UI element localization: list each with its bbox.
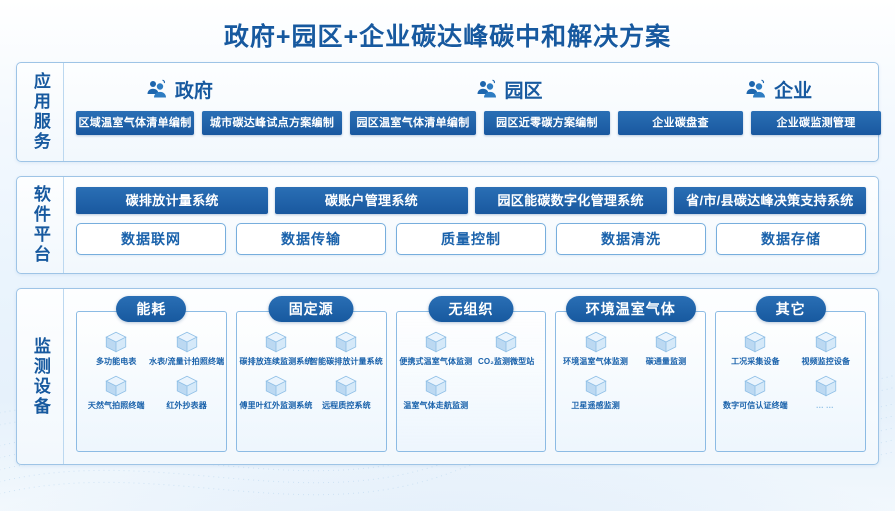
group-title-government: 政府 [175, 76, 213, 103]
device-label: 远程质控系统 [322, 402, 371, 411]
device-label: 卫星遥感监测 [571, 402, 620, 411]
cube-icon [333, 373, 359, 399]
app-button-city-carbon-peak-pilot[interactable]: 城市碳达峰试点方案编制 [202, 111, 342, 135]
column-caption-ambient-ghg: 环境温室气体 [566, 296, 696, 322]
device-list-ambient-ghg: 环境温室气体监测 碳通量监测 [555, 311, 706, 452]
solution-architecture-page: 政府+园区+企业碳达峰碳中和解决方案 应用服务 [0, 0, 895, 511]
application-services-body: 政府 园区 [64, 63, 893, 161]
application-services-label: 应用服务 [17, 63, 64, 161]
software-platform-capabilities: 数据联网 数据传输 质量控制 数据清洗 数据存储 [64, 214, 878, 255]
app-button-regional-ghg-inventory[interactable]: 区域温室气体清单编制 [76, 111, 194, 135]
monitoring-column-stationary-source: 固定源 碳排放连续监测系统 [236, 303, 387, 452]
device-item[interactable]: 水表/流量计拍照终端 [151, 329, 221, 367]
monitoring-equipment-band: 监测设备 能耗 多功能电表 [16, 288, 879, 465]
monitoring-column-ambient-ghg: 环境温室气体 环境温室气体监测 [555, 303, 706, 452]
device-label: 多功能电表 [96, 358, 137, 367]
application-services-band: 应用服务 政府 [16, 62, 879, 162]
group-heading-enterprise: 企业 [643, 76, 883, 103]
app-button-enterprise-carbon-audit[interactable]: 企业碳盘查 [618, 111, 743, 135]
cube-icon [263, 329, 289, 355]
software-platform-label: 软件平台 [17, 177, 64, 273]
column-caption-fugitive-source: 无组织 [428, 296, 513, 322]
software-platform-label-text: 软件平台 [31, 185, 49, 265]
cube-icon [583, 329, 609, 355]
monitoring-equipment-label-text: 监测设备 [31, 337, 49, 417]
cube-icon [742, 329, 768, 355]
device-label: 红外抄表器 [166, 402, 207, 411]
device-label: 智能碳排放计量系统 [310, 358, 383, 367]
group-heading-government: 政府 [74, 76, 404, 103]
capability-data-networking[interactable]: 数据联网 [76, 223, 226, 255]
software-platform-band: 软件平台 碳排放计量系统 碳账户管理系统 园区能碳数字化管理系统 省/市/县碳达… [16, 176, 879, 274]
device-item[interactable]: CO₂监测微型站 [471, 329, 541, 367]
cube-icon [174, 373, 200, 399]
device-label: 水表/流量计拍照终端 [149, 358, 224, 367]
system-carbon-account-management[interactable]: 碳账户管理系统 [275, 187, 467, 214]
capability-quality-control[interactable]: 质量控制 [396, 223, 546, 255]
device-item[interactable]: 工况采集设备 [720, 329, 790, 367]
cube-icon [103, 329, 129, 355]
application-services-buttons: 区域温室气体清单编制 城市碳达峰试点方案编制 园区温室气体清单编制 园区近零碳方… [64, 111, 893, 135]
cube-icon [813, 373, 839, 399]
device-item[interactable]: 卫星遥感监测 [560, 373, 630, 411]
device-item[interactable]: 智能碳排放计量系统 [311, 329, 381, 367]
monitoring-column-energy-consumption: 能耗 多功能电表 [76, 303, 227, 452]
device-item[interactable]: 多功能电表 [81, 329, 151, 367]
device-label: 便携式温室气体监测 [399, 358, 472, 367]
capability-data-storage[interactable]: 数据存储 [716, 223, 866, 255]
device-item[interactable]: 远程质控系统 [311, 373, 381, 411]
cube-icon [174, 329, 200, 355]
monitoring-columns: 能耗 多功能电表 [64, 289, 878, 464]
device-item[interactable]: 傅里叶红外监测系统 [241, 373, 311, 411]
column-caption-other: 其它 [756, 296, 826, 322]
people-group-icon [145, 77, 169, 101]
app-button-enterprise-carbon-monitoring[interactable]: 企业碳监测管理 [751, 111, 881, 135]
device-label: …… [816, 402, 836, 411]
device-item[interactable]: 温室气体走航监测 [401, 373, 471, 411]
cube-icon [263, 373, 289, 399]
device-label: 天然气拍照终端 [88, 402, 145, 411]
cube-icon [423, 373, 449, 399]
app-button-park-near-zero-carbon[interactable]: 园区近零碳方案编制 [484, 111, 610, 135]
device-label: CO₂监测微型站 [478, 358, 534, 367]
cube-icon [813, 329, 839, 355]
people-group-icon [475, 77, 499, 101]
app-button-park-ghg-inventory[interactable]: 园区温室气体清单编制 [350, 111, 476, 135]
device-label: 视频监控设备 [801, 358, 850, 367]
software-platform-systems: 碳排放计量系统 碳账户管理系统 园区能碳数字化管理系统 省/市/县碳达峰决策支持… [64, 177, 878, 214]
capability-data-transmission[interactable]: 数据传输 [236, 223, 386, 255]
monitoring-column-fugitive-source: 无组织 便携式温室气体监测 [396, 303, 547, 452]
software-platform-body: 碳排放计量系统 碳账户管理系统 园区能碳数字化管理系统 省/市/县碳达峰决策支持… [64, 177, 878, 273]
system-park-energy-carbon-digital[interactable]: 园区能碳数字化管理系统 [475, 187, 667, 214]
device-label: 温室气体走航监测 [403, 402, 468, 411]
capability-data-cleaning[interactable]: 数据清洗 [556, 223, 706, 255]
group-heading-park: 园区 [404, 76, 644, 103]
group-title-park: 园区 [505, 76, 543, 103]
device-item[interactable]: 数字可信认证终端 [720, 373, 790, 411]
device-label: 碳通量监测 [646, 358, 687, 367]
device-item[interactable]: 红外抄表器 [151, 373, 221, 411]
device-item[interactable]: 碳排放连续监测系统 [241, 329, 311, 367]
cube-icon [583, 373, 609, 399]
device-item[interactable]: 便携式温室气体监测 [401, 329, 471, 367]
group-title-enterprise: 企业 [774, 76, 812, 103]
device-item[interactable]: 碳通量监测 [631, 329, 701, 367]
application-services-headings: 政府 园区 [64, 63, 893, 111]
device-label: 环境温室气体监测 [563, 358, 628, 367]
cube-icon [493, 329, 519, 355]
cube-icon [742, 373, 768, 399]
system-provincial-carbon-peak-decision[interactable]: 省/市/县碳达峰决策支持系统 [674, 187, 866, 214]
device-item[interactable]: 环境温室气体监测 [560, 329, 630, 367]
column-caption-stationary-source: 固定源 [269, 296, 354, 322]
cube-icon [423, 329, 449, 355]
device-list-fugitive-source: 便携式温室气体监测 CO₂监测微型站 [396, 311, 547, 452]
device-label: 工况采集设备 [731, 358, 780, 367]
device-item[interactable]: 天然气拍照终端 [81, 373, 151, 411]
page-title: 政府+园区+企业碳达峰碳中和解决方案 [0, 0, 895, 53]
cube-icon [653, 329, 679, 355]
system-carbon-emission-metering[interactable]: 碳排放计量系统 [76, 187, 268, 214]
device-list-other: 工况采集设备 视频监控设备 [715, 311, 866, 452]
device-list-energy-consumption: 多功能电表 水表/流量计拍照终端 [76, 311, 227, 452]
people-group-icon [744, 77, 768, 101]
monitoring-equipment-body: 能耗 多功能电表 [64, 289, 878, 464]
monitoring-column-other: 其它 工况采集设备 [715, 303, 866, 452]
column-caption-energy-consumption: 能耗 [116, 296, 186, 322]
device-list-stationary-source: 碳排放连续监测系统 智能碳排放计量系统 [236, 311, 387, 452]
monitoring-equipment-label: 监测设备 [17, 289, 64, 464]
cube-icon [333, 329, 359, 355]
device-label: 碳排放连续监测系统 [240, 358, 313, 367]
device-label: 数字可信认证终端 [723, 402, 788, 411]
device-item[interactable]: …… [791, 373, 861, 411]
application-services-label-text: 应用服务 [31, 72, 49, 152]
device-label: 傅里叶红外监测系统 [240, 402, 313, 411]
cube-icon [103, 373, 129, 399]
device-item[interactable]: 视频监控设备 [791, 329, 861, 367]
